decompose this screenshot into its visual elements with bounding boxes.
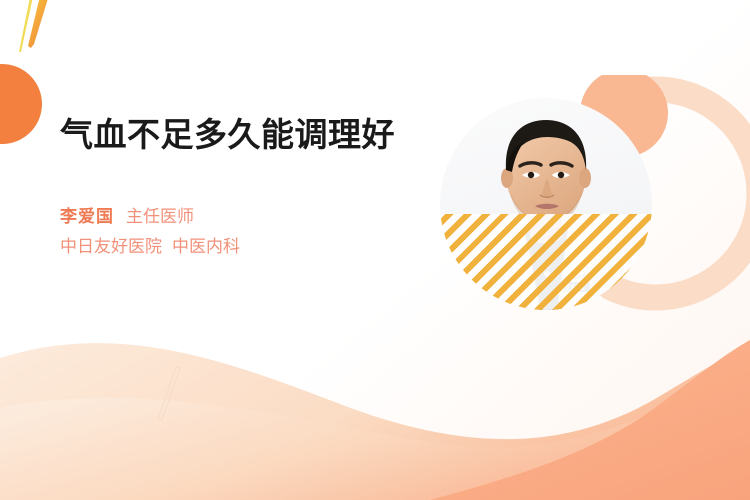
thin-outline-line (150, 365, 190, 425)
doctor-hospital: 中日友好医院 (60, 237, 162, 256)
doctor-professional-title: 主任医师 (126, 207, 194, 226)
doctor-name: 李爱国 (60, 207, 114, 226)
thumbnail-card: 气血不足多久能调理好 李爱国主任医师 中日友好医院中医内科 (0, 0, 750, 500)
doctor-name-row: 李爱国主任医师 (60, 202, 420, 232)
doctor-info: 李爱国主任医师 中日友好医院中医内科 (60, 202, 420, 262)
page-title: 气血不足多久能调理好 (60, 112, 420, 158)
doctor-photo (440, 98, 652, 310)
doctor-department: 中医内科 (172, 237, 240, 256)
doctor-affiliation-row: 中日友好医院中医内科 (60, 232, 420, 262)
text-block: 气血不足多久能调理好 李爱国主任医师 中日友好医院中医内科 (60, 112, 420, 262)
